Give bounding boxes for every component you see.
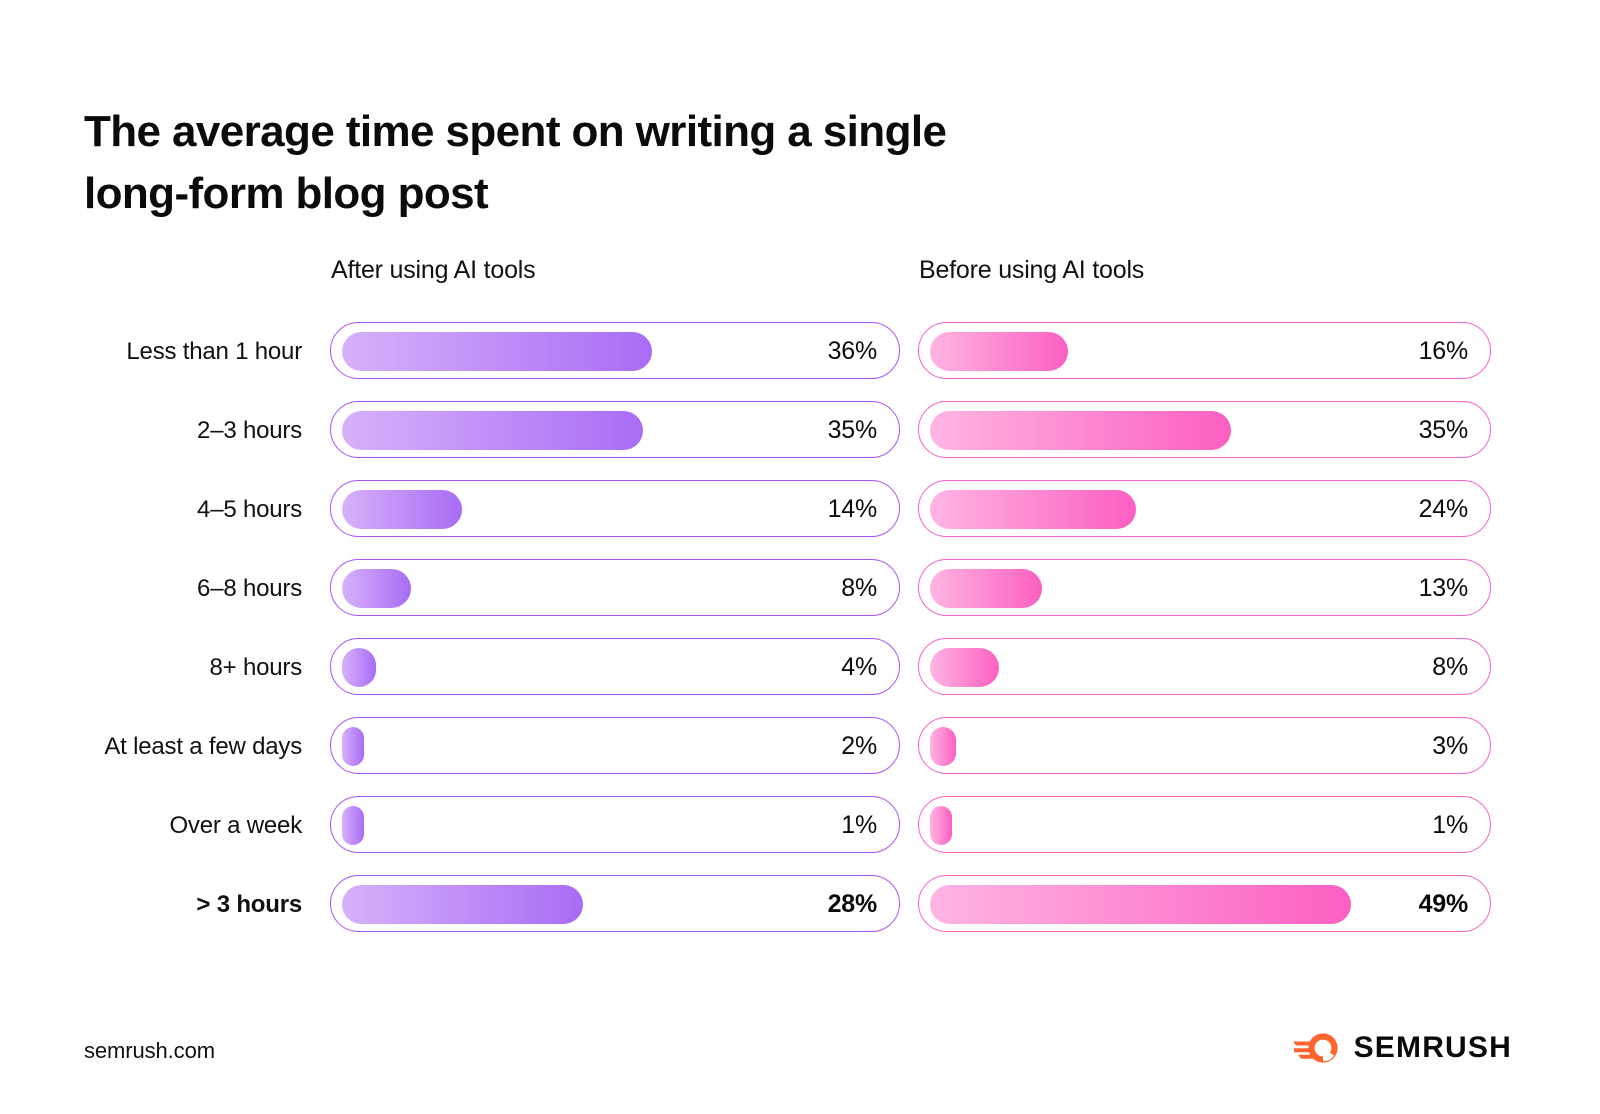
- bar-track-after: 14%: [330, 480, 900, 537]
- bar-fill: [930, 411, 1231, 450]
- bar-fill: [342, 806, 364, 845]
- bar-value-label: 24%: [1419, 481, 1468, 538]
- bar-value-label: 28%: [828, 876, 877, 933]
- bar-fill: [930, 885, 1351, 924]
- semrush-logo: SEMRUSH: [1293, 1031, 1512, 1065]
- page-title-line-1: The average time spent on writing a sing…: [84, 101, 1184, 163]
- bar-fill: [342, 332, 652, 371]
- infographic-page: The average time spent on writing a sing…: [0, 0, 1600, 1114]
- chart-row: At least a few days2%3%: [0, 717, 1600, 776]
- bar-fill: [342, 885, 583, 924]
- bar-fill: [930, 648, 999, 687]
- page-title: The average time spent on writing a sing…: [84, 101, 1184, 225]
- bar-value-label: 4%: [841, 639, 877, 696]
- chart-row: 4–5 hours14%24%: [0, 480, 1600, 539]
- bar-track-before: 35%: [918, 401, 1491, 458]
- bar-fill: [930, 332, 1068, 371]
- chart-row: Over a week1%1%: [0, 796, 1600, 855]
- row-label: Over a week: [0, 796, 302, 855]
- row-label: > 3 hours: [0, 875, 302, 934]
- bar-track-before: 1%: [918, 796, 1491, 853]
- chart-row: > 3 hours28%49%: [0, 875, 1600, 934]
- bar-value-label: 49%: [1419, 876, 1468, 933]
- bar-track-after: 8%: [330, 559, 900, 616]
- bar-fill: [930, 569, 1042, 608]
- bar-track-before: 3%: [918, 717, 1491, 774]
- bar-track-before: 24%: [918, 480, 1491, 537]
- bar-fill: [342, 727, 364, 766]
- bar-value-label: 14%: [828, 481, 877, 538]
- bar-track-after: 35%: [330, 401, 900, 458]
- bar-value-label: 35%: [828, 402, 877, 459]
- bar-track-after: 36%: [330, 322, 900, 379]
- bar-value-label: 16%: [1419, 323, 1468, 380]
- row-label: At least a few days: [0, 717, 302, 776]
- row-label: 2–3 hours: [0, 401, 302, 460]
- bar-fill: [930, 806, 952, 845]
- bar-track-after: 2%: [330, 717, 900, 774]
- chart-row: 6–8 hours8%13%: [0, 559, 1600, 618]
- bar-value-label: 8%: [1432, 639, 1468, 696]
- bar-fill: [342, 648, 376, 687]
- row-label: 8+ hours: [0, 638, 302, 697]
- row-label: 6–8 hours: [0, 559, 302, 618]
- bar-track-before: 8%: [918, 638, 1491, 695]
- semrush-comet-icon: [1293, 1031, 1341, 1065]
- semrush-logo-text: SEMRUSH: [1354, 1031, 1512, 1065]
- page-title-line-2: long-form blog post: [84, 163, 1184, 225]
- bar-value-label: 13%: [1419, 560, 1468, 617]
- bar-track-after: 1%: [330, 796, 900, 853]
- bar-fill: [930, 490, 1136, 529]
- bar-fill: [342, 411, 643, 450]
- bar-value-label: 8%: [841, 560, 877, 617]
- row-label: Less than 1 hour: [0, 322, 302, 381]
- bar-value-label: 35%: [1419, 402, 1468, 459]
- bar-track-after: 28%: [330, 875, 900, 932]
- bar-track-after: 4%: [330, 638, 900, 695]
- bar-fill: [342, 490, 462, 529]
- bar-chart: Less than 1 hour36%16%2–3 hours35%35%4–5…: [0, 322, 1600, 934]
- column-header-after: After using AI tools: [331, 256, 535, 285]
- footer-url[interactable]: semrush.com: [84, 1038, 215, 1064]
- bar-value-label: 3%: [1432, 718, 1468, 775]
- bar-track-before: 13%: [918, 559, 1491, 616]
- column-header-before: Before using AI tools: [919, 256, 1144, 285]
- bar-fill: [342, 569, 411, 608]
- bar-track-before: 16%: [918, 322, 1491, 379]
- chart-row: 2–3 hours35%35%: [0, 401, 1600, 460]
- bar-value-label: 2%: [841, 718, 877, 775]
- bar-value-label: 1%: [1432, 797, 1468, 854]
- row-label: 4–5 hours: [0, 480, 302, 539]
- bar-track-before: 49%: [918, 875, 1491, 932]
- bar-value-label: 1%: [841, 797, 877, 854]
- bar-fill: [930, 727, 956, 766]
- chart-row: Less than 1 hour36%16%: [0, 322, 1600, 381]
- bar-value-label: 36%: [828, 323, 877, 380]
- chart-row: 8+ hours4%8%: [0, 638, 1600, 697]
